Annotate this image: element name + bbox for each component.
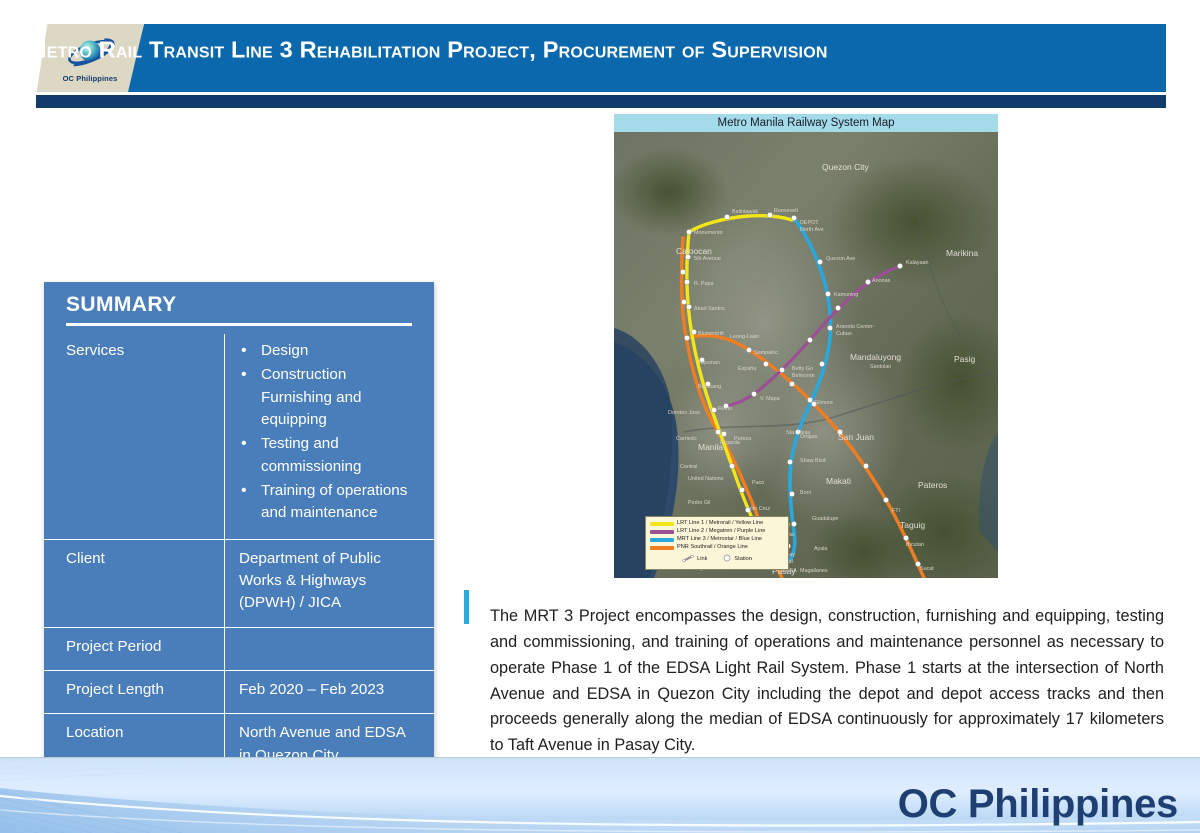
accent-bar <box>464 590 469 624</box>
svg-text:Paco: Paco <box>752 480 764 486</box>
legend-entry: LRT Line 1 / Metrorail / Yellow Line <box>650 520 784 528</box>
row-key: Services <box>44 334 225 539</box>
svg-text:Leong-Laan: Leong-Laan <box>730 334 759 340</box>
svg-text:R. Papa: R. Papa <box>694 281 713 287</box>
svg-text:Pureza: Pureza <box>734 436 751 442</box>
row-value: Feb 2020 – Feb 2023 <box>225 671 435 714</box>
legend-swatch-orange-line <box>650 546 674 550</box>
svg-text:Taguig: Taguig <box>900 520 925 530</box>
svg-text:Doroteo Jose: Doroteo Jose <box>668 410 700 416</box>
svg-text:Kalayaan: Kalayaan <box>906 260 928 266</box>
svg-text:Sampaloc: Sampaloc <box>754 350 778 356</box>
svg-text:Bambang: Bambang <box>698 384 721 390</box>
svg-text:Quezon City: Quezon City <box>822 162 870 172</box>
svg-text:Shaw Blvd: Shaw Blvd <box>800 458 825 464</box>
svg-text:Caloocan: Caloocan <box>676 246 712 256</box>
summary-panel: SUMMARY Services Design Construction Fur… <box>44 282 434 802</box>
services-bullet-list: Design Construction Furnishing and equip… <box>239 340 418 525</box>
svg-text:Pateros: Pateros <box>918 480 947 490</box>
svg-text:Makati: Makati <box>826 476 851 486</box>
page-header: OC Philippines Metro Rail Transit Line 3… <box>0 0 1200 100</box>
svg-text:V. Mapa: V. Mapa <box>760 396 780 402</box>
svg-text:Mandaluyong: Mandaluyong <box>850 352 901 362</box>
summary-table: Services Design Construction Furnishing … <box>44 334 434 802</box>
row-key: Client <box>44 539 225 627</box>
svg-text:5th Avenue: 5th Avenue <box>694 256 721 262</box>
svg-text:DEPOT: DEPOT <box>800 220 819 226</box>
svg-text:Tayuman: Tayuman <box>698 360 720 366</box>
svg-text:Quezon Ave: Quezon Ave <box>826 256 855 262</box>
svg-text:Gilmore: Gilmore <box>814 400 833 406</box>
legend-swatch-blue-line <box>650 538 674 542</box>
table-row: Project Period <box>44 627 434 670</box>
page-footer: OC Philippines <box>0 757 1200 833</box>
row-key: Project Length <box>44 671 225 714</box>
legend-label: LRT Line 2 / Megatren / Purple Line <box>677 528 765 536</box>
svg-text:Santolan: Santolan <box>870 364 891 370</box>
svg-text:Vito Cruz: Vito Cruz <box>748 506 770 512</box>
station-icon <box>723 554 731 566</box>
svg-text:Anonas: Anonas <box>872 278 891 284</box>
description-text: The MRT 3 Project encompasses the design… <box>490 604 1164 758</box>
svg-text:Balintawak: Balintawak <box>732 209 758 215</box>
svg-text:Magallanes: Magallanes <box>800 568 828 574</box>
svg-text:Pasig: Pasig <box>954 354 976 364</box>
legend-swatch-yellow-line <box>650 522 674 526</box>
svg-text:Recto: Recto <box>718 406 732 412</box>
summary-title: SUMMARY <box>44 282 434 323</box>
svg-text:Sucat: Sucat <box>920 566 934 572</box>
svg-text:Guadalupe: Guadalupe <box>812 516 838 522</box>
svg-text:Araneta Center-: Araneta Center- <box>836 324 875 330</box>
legend-entry: PNR Southrail / Orange Line <box>650 544 784 552</box>
list-item: Training of operations and maintenance <box>239 480 418 525</box>
legend-entry: MRT Line 3 / Metrostar / Blue Line <box>650 536 784 544</box>
svg-text:Ortigas: Ortigas <box>800 434 818 440</box>
legend-label: PNR Southrail / Orange Line <box>677 544 748 552</box>
svg-text:Abad Santos: Abad Santos <box>694 306 725 312</box>
svg-text:North Ave: North Ave <box>800 227 824 233</box>
svg-text:Pedro Gil: Pedro Gil <box>688 500 710 506</box>
legend-label: MRT Line 3 / Metrostar / Blue Line <box>677 536 762 544</box>
svg-text:España: España <box>738 366 756 372</box>
header-divider-rule <box>36 95 1166 108</box>
table-row: Project Length Feb 2020 – Feb 2023 <box>44 671 434 714</box>
map-caption: Metro Manila Railway System Map <box>614 114 998 132</box>
legend-footer: Link Station <box>650 554 784 566</box>
legend-entry-link: Link <box>682 555 707 566</box>
svg-text:Belmonte: Belmonte <box>792 373 815 379</box>
svg-text:FTI: FTI <box>892 508 900 514</box>
svg-text:Carriedo: Carriedo <box>676 436 697 442</box>
svg-text:United Nations: United Nations <box>688 476 724 482</box>
row-key: Project Period <box>44 627 225 670</box>
row-value <box>225 627 435 670</box>
svg-text:Blumentritt: Blumentritt <box>698 331 724 337</box>
svg-text:Marikina: Marikina <box>946 248 978 258</box>
legend-entry-station: Station <box>723 554 751 566</box>
legend-swatch-purple-line <box>650 530 674 534</box>
railway-map: Metro Manila Railway System Map <box>614 114 998 578</box>
page-title: Metro Rail Transit Line 3 Rehabilitation… <box>27 37 828 64</box>
logo-caption: OC Philippines <box>63 74 118 83</box>
svg-text:Kamuning: Kamuning <box>834 292 858 298</box>
legend-label: Link <box>697 556 707 564</box>
row-value: Design Construction Furnishing and equip… <box>225 334 435 539</box>
svg-text:Boni: Boni <box>800 490 811 496</box>
svg-text:Bicutan: Bicutan <box>906 542 924 548</box>
map-legend: LRT Line 1 / Metrorail / Yellow Line LRT… <box>645 516 789 570</box>
legend-entry: LRT Line 2 / Megatren / Purple Line <box>650 528 784 536</box>
map-canvas: Quezon City Marikina Caloocan Manila San… <box>614 132 998 578</box>
svg-text:Roosevelt: Roosevelt <box>774 208 798 214</box>
description-block: The MRT 3 Project encompasses the design… <box>464 588 1164 775</box>
list-item: Testing and commissioning <box>239 433 418 478</box>
table-row: Client Department of Public Works & High… <box>44 539 434 627</box>
list-item: Design <box>239 340 418 362</box>
svg-text:Monumento: Monumento <box>694 230 722 236</box>
list-item: Construction Furnishing and equipping <box>239 364 418 431</box>
map-graphic: Quezon City Marikina Caloocan Manila San… <box>614 132 998 578</box>
svg-text:San Juan: San Juan <box>838 432 874 442</box>
table-row: Services Design Construction Furnishing … <box>44 334 434 539</box>
link-icon <box>682 555 694 566</box>
svg-text:Central: Central <box>680 464 697 470</box>
svg-text:Ayala: Ayala <box>814 546 827 552</box>
svg-text:Cubao: Cubao <box>836 331 852 337</box>
legend-label: Station <box>734 556 751 564</box>
svg-text:Betty Go: Betty Go <box>792 366 813 372</box>
summary-title-rule <box>66 323 412 326</box>
row-value: Department of Public Works & Highways (D… <box>225 539 435 627</box>
footer-brand: OC Philippines <box>898 782 1178 827</box>
legend-label: LRT Line 1 / Metrorail / Yellow Line <box>677 520 763 528</box>
